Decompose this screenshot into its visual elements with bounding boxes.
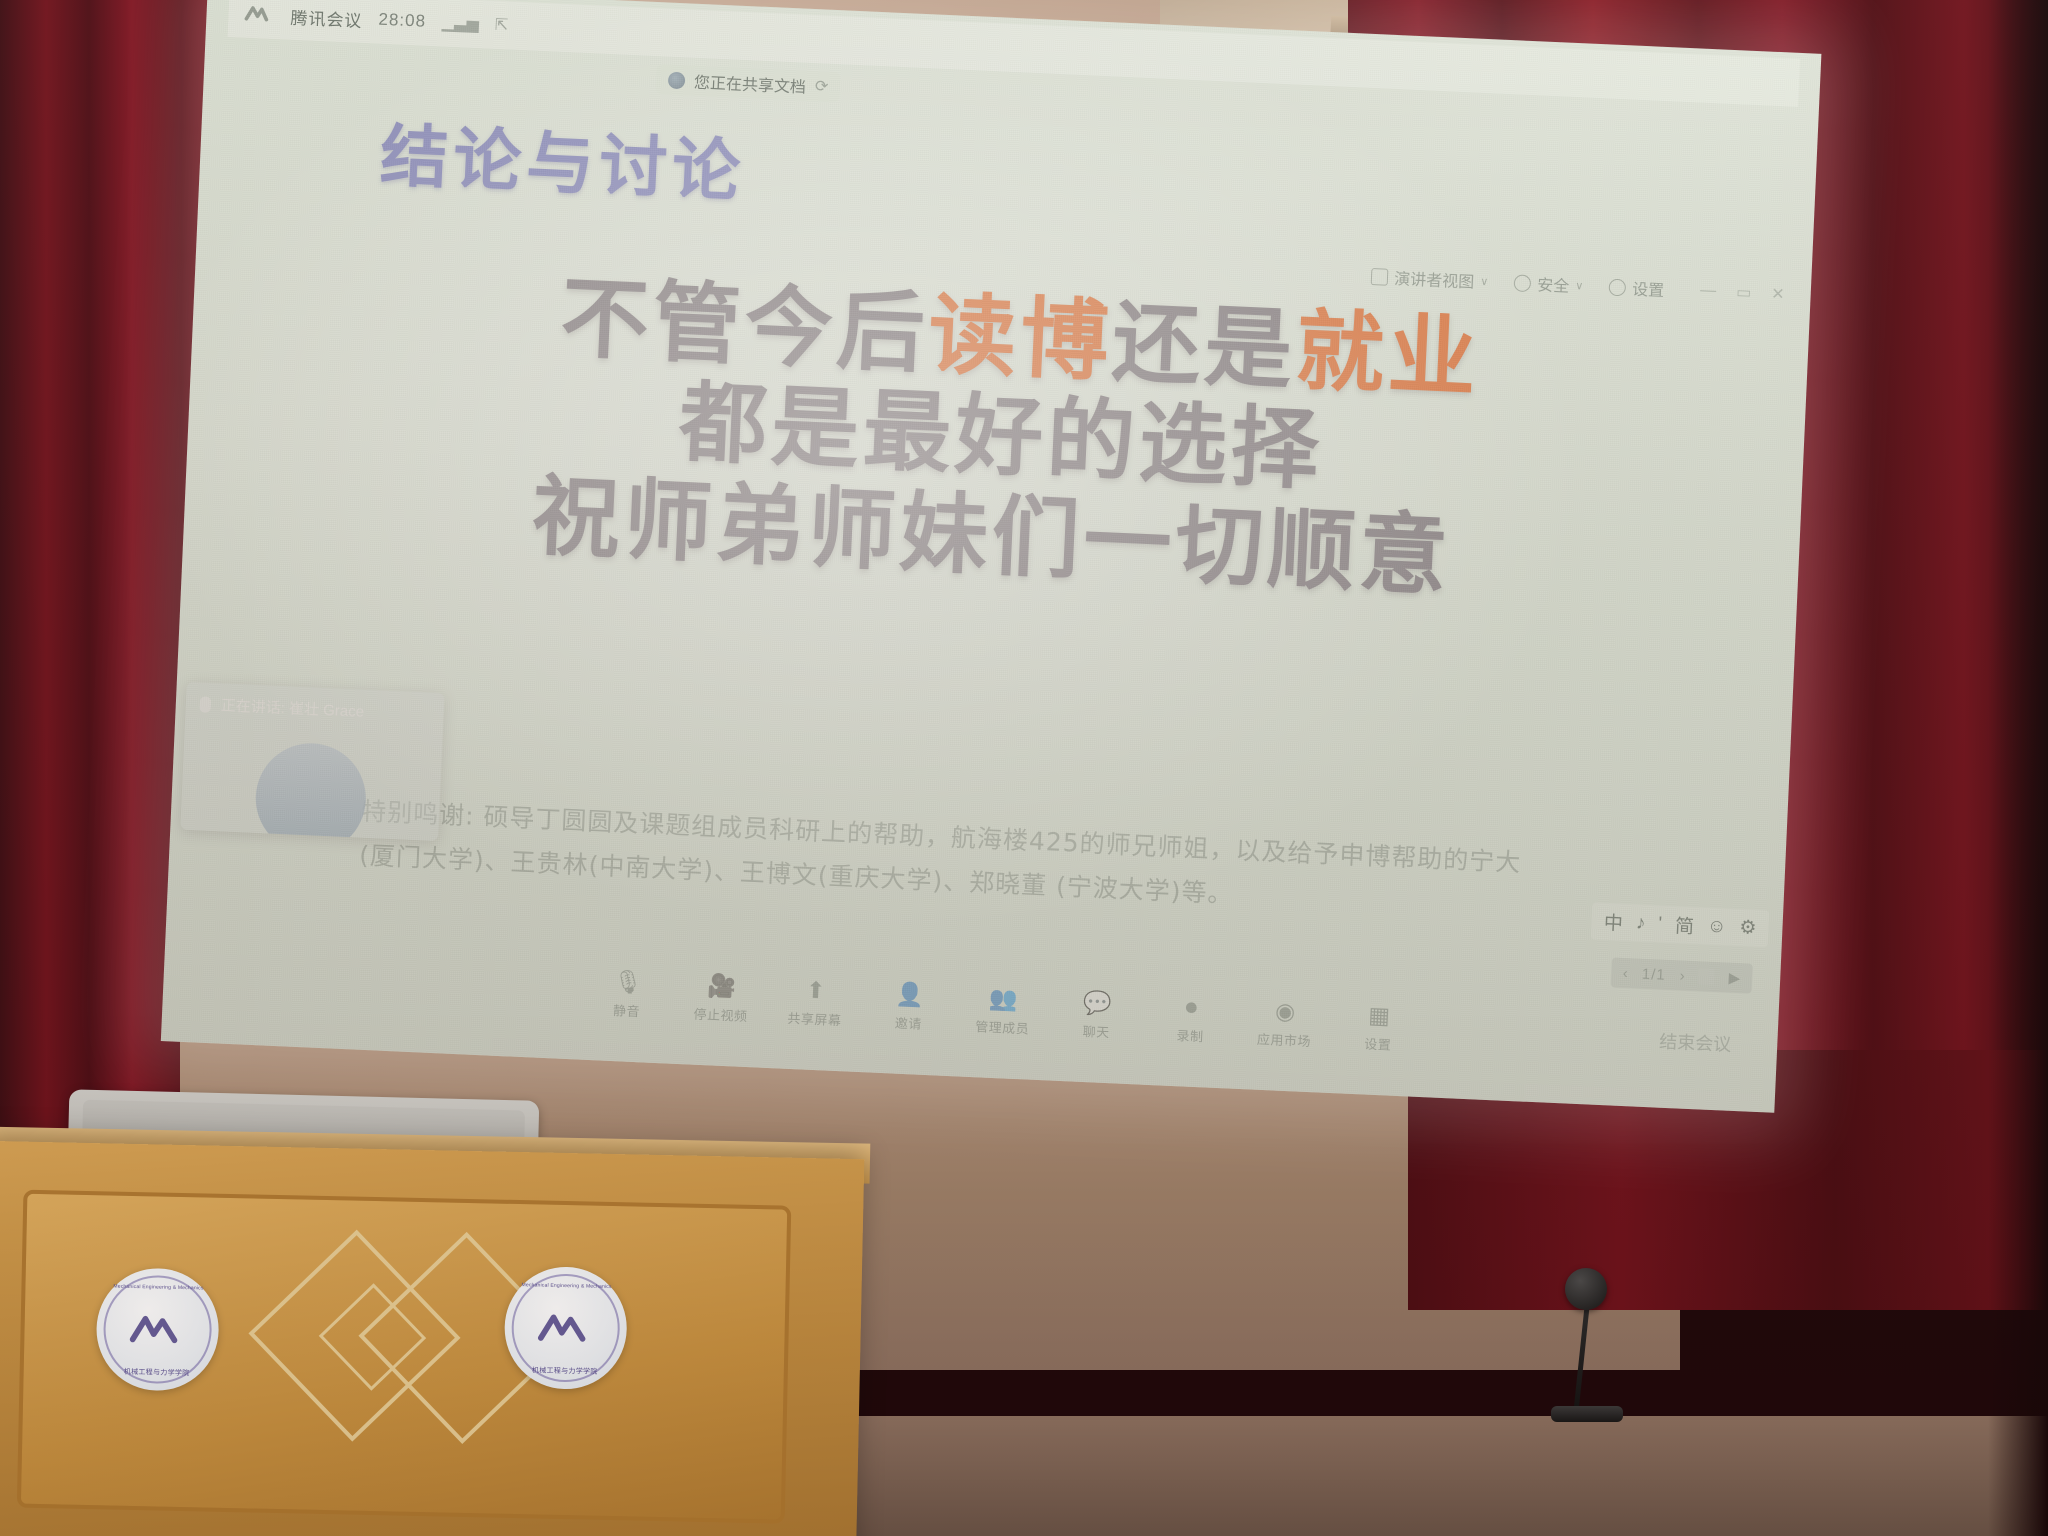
slide-acknowledgement: 特别鸣谢: 硕导丁圆圆及课题组成员科研上的帮助，航海楼425的师兄师姐，以及给予… bbox=[358, 790, 1661, 935]
shield-icon bbox=[1514, 274, 1532, 292]
projection-screen: 腾讯会议 28:08 ▁▃▅ ⇱ 您正在共享文档 ⟳ 演讲者视图 ∨ bbox=[161, 0, 1822, 1113]
slide-line1-pre: 不管今后 bbox=[559, 266, 931, 385]
ime-simplified[interactable]: 简 bbox=[1674, 911, 1694, 939]
slide-title: 结论与讨论 bbox=[379, 100, 748, 215]
microphone-icon: 🎙 bbox=[613, 970, 643, 994]
maximize-button[interactable]: ▭ bbox=[1736, 282, 1752, 303]
toolbar-mute-label: 静音 bbox=[613, 1000, 641, 1020]
slide-line1-highlight-1: 读博 bbox=[926, 282, 1114, 393]
toolbar-share-screen-label: 共享屏幕 bbox=[787, 1007, 842, 1028]
ime-emoji-icon[interactable]: ☺ bbox=[1707, 915, 1727, 938]
gear-icon bbox=[1609, 278, 1627, 296]
school-logo-cn-left: 机械工程与力学学院 bbox=[124, 1367, 190, 1378]
photo-dark-edge bbox=[1988, 0, 2048, 1536]
toolbar-invite-button[interactable]: 👤 邀请 bbox=[864, 981, 954, 1034]
school-logo-badge-right: Mechanical Engineering & Mechanics 机械工程与… bbox=[503, 1266, 628, 1391]
toolbar-record-button[interactable]: ⏺ 录制 bbox=[1146, 993, 1236, 1046]
toolbar-stop-video-button[interactable]: 🎥 停止视频 bbox=[676, 972, 766, 1025]
toolbar-mute-button[interactable]: 🎙 静音 bbox=[582, 968, 672, 1021]
slide-body: 不管今后读博还是就业 都是最好的选择 祝师弟师妹们一切顺意 bbox=[183, 252, 1810, 622]
meeting-view-toolbar: 演讲者视图 ∨ 安全 ∨ 设置 — ▭ ✕ bbox=[1371, 264, 1785, 306]
slide-line1-highlight-2: 就业 bbox=[1294, 299, 1482, 410]
mountain-logo-icon bbox=[128, 1310, 187, 1349]
next-slide-icon[interactable]: › bbox=[1679, 967, 1685, 984]
chevron-down-icon: ∨ bbox=[1480, 274, 1489, 287]
toolbar-app-market-button[interactable]: ◉ 应用市场 bbox=[1240, 998, 1330, 1051]
minimize-button[interactable]: — bbox=[1700, 282, 1717, 301]
toolbar-stop-video-label: 停止视频 bbox=[693, 1003, 748, 1024]
refresh-icon[interactable]: ⟳ bbox=[815, 76, 829, 97]
stop-share-icon[interactable] bbox=[1698, 968, 1715, 985]
podium-panel: Mechanical Engineering & Mechanics 机械工程与… bbox=[17, 1190, 791, 1524]
settings-label: 设置 bbox=[1632, 276, 1665, 301]
layout-icon bbox=[1371, 268, 1389, 286]
chat-icon: 💬 bbox=[1083, 990, 1113, 1014]
toolbar-chat-button[interactable]: 💬 聊天 bbox=[1052, 989, 1142, 1042]
ime-settings-icon[interactable]: ⚙ bbox=[1739, 916, 1757, 940]
ime-mode[interactable]: 中 bbox=[1603, 908, 1623, 936]
avatar bbox=[253, 741, 368, 841]
end-meeting-button[interactable]: 结束会议 bbox=[1659, 1028, 1732, 1057]
members-icon: 👥 bbox=[989, 986, 1019, 1010]
microphone-icon bbox=[1565, 1268, 1607, 1310]
toolbar-app-market-label: 应用市场 bbox=[1257, 1028, 1312, 1049]
invite-icon: 👤 bbox=[895, 982, 925, 1006]
share-screen-icon: ⬆ bbox=[806, 978, 826, 1002]
toolbar-more-label: 设置 bbox=[1364, 1033, 1392, 1053]
ime-note-icon[interactable]: ♪ bbox=[1635, 912, 1645, 934]
tencent-meeting-logo-icon bbox=[244, 3, 275, 26]
share-status-label: 您正在共享文档 bbox=[694, 69, 807, 98]
podium: Mechanical Engineering & Mechanics 机械工程与… bbox=[0, 1141, 864, 1536]
speaker-view-button[interactable]: 演讲者视图 ∨ bbox=[1371, 264, 1489, 293]
play-icon[interactable]: ▶ bbox=[1728, 969, 1740, 987]
slide-page-indicator: 1/1 bbox=[1642, 965, 1667, 983]
window-controls: — ▭ ✕ bbox=[1700, 281, 1785, 305]
speaker-view-label: 演讲者视图 bbox=[1394, 265, 1475, 293]
security-button[interactable]: 安全 ∨ bbox=[1514, 270, 1584, 297]
school-logo-badge-left: Mechanical Engineering & Mechanics 机械工程与… bbox=[95, 1267, 220, 1392]
active-speaker-header: 正在讲话: 崔壮 Grace bbox=[185, 682, 444, 725]
active-speaker-label: 正在讲话: 崔壮 Grace bbox=[220, 694, 364, 721]
toolbar-chat-label: 聊天 bbox=[1082, 1020, 1110, 1040]
toolbar-record-label: 录制 bbox=[1176, 1025, 1204, 1045]
share-status-pill[interactable]: 您正在共享文档 ⟳ bbox=[655, 64, 841, 102]
school-logo-cn-right: 机械工程与力学学院 bbox=[532, 1365, 598, 1376]
slide-line1-mid: 还是 bbox=[1110, 291, 1298, 402]
prev-slide-icon[interactable]: ‹ bbox=[1623, 964, 1629, 981]
record-icon: ⏺ bbox=[1185, 995, 1198, 1018]
meeting-timer[interactable]: 28:08 bbox=[378, 10, 426, 32]
toolbar-more-button[interactable]: ▦ 设置 bbox=[1334, 1002, 1424, 1055]
presentation-mini-controls[interactable]: ‹ 1/1 › ▶ bbox=[1610, 957, 1753, 993]
pop-out-icon[interactable]: ⇱ bbox=[494, 15, 508, 36]
toolbar-invite-label: 邀请 bbox=[894, 1012, 922, 1032]
ime-language-bar[interactable]: 中 ♪ ' 简 ☺ ⚙ bbox=[1591, 903, 1769, 948]
meeting-app-name: 腾讯会议 bbox=[290, 3, 363, 31]
chevron-down-icon: ∨ bbox=[1575, 279, 1584, 292]
signal-bars-icon[interactable]: ▁▃▅ bbox=[442, 12, 480, 34]
projection-screen-area: 腾讯会议 28:08 ▁▃▅ ⇱ 您正在共享文档 ⟳ 演讲者视图 ∨ bbox=[161, 0, 1822, 1113]
mountain-logo-icon bbox=[536, 1308, 595, 1347]
app-market-icon: ◉ bbox=[1275, 999, 1296, 1023]
ime-punctuation-icon[interactable]: ' bbox=[1658, 913, 1663, 935]
camera-icon: 🎥 bbox=[707, 974, 737, 998]
share-avatar-icon bbox=[668, 71, 686, 89]
security-label: 安全 bbox=[1537, 271, 1570, 296]
lecture-hall-photo: 腾讯会议 28:08 ▁▃▅ ⇱ 您正在共享文档 ⟳ 演讲者视图 ∨ bbox=[0, 0, 2048, 1536]
toolbar-members-label: 管理成员 bbox=[975, 1016, 1030, 1037]
toolbar-share-screen-button[interactable]: ⬆ 共享屏幕 bbox=[770, 977, 860, 1030]
toolbar-members-button[interactable]: 👥 管理成员 bbox=[958, 985, 1048, 1038]
more-icon: ▦ bbox=[1368, 1003, 1391, 1027]
settings-button[interactable]: 设置 bbox=[1609, 275, 1665, 301]
microphone-icon bbox=[200, 696, 212, 712]
close-icon[interactable]: ✕ bbox=[1771, 284, 1785, 305]
active-speaker-tile[interactable]: 正在讲话: 崔壮 Grace bbox=[180, 682, 444, 841]
